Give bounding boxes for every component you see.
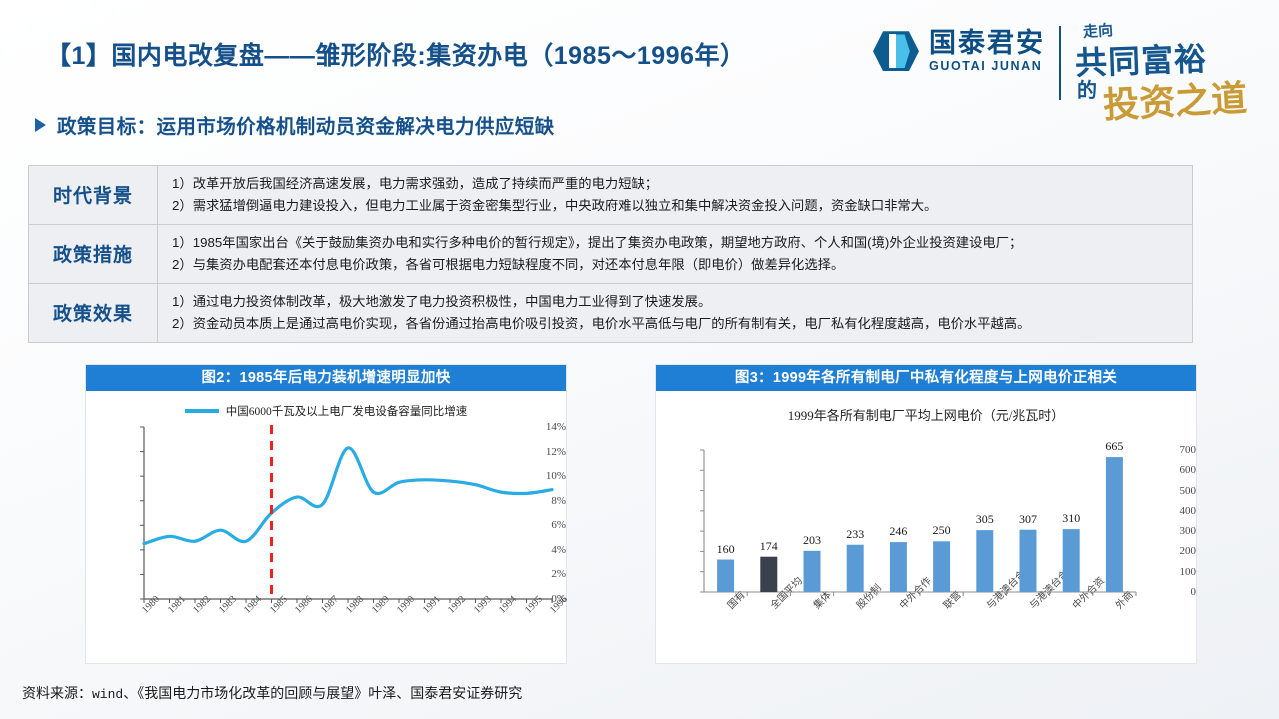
row-body: 1）通过电力投资体制改革，极大地激发了电力投资积极性，中国电力工业得到了快速发展… <box>158 283 1193 342</box>
brand-block: 国泰君安 GUOTAI JUNAN 走向 共同富裕 的 投资之道 <box>867 14 1267 110</box>
chart-panel-figure-3: 图3：1999年各所有制电厂中私有化程度与上网电价正相关 1999年各所有制电厂… <box>655 364 1197 664</box>
footnote-suffix: 、《我国电力市场化改革的回顾与展望》叶泽、国泰君安证券研究 <box>123 685 522 701</box>
company-logo: 国泰君安 GUOTAI JUNAN <box>873 30 1045 73</box>
row-label: 政策措施 <box>29 224 158 283</box>
bar <box>847 545 864 592</box>
row-line: 1）改革开放后我国经济高速发展，电力需求强劲，造成了持续而严重的电力短缺； <box>172 173 1183 195</box>
line-chart-svg <box>86 419 566 669</box>
row-line: 2）资金动员本质上是通过高电价实现，各省份通过抬高电价吸引投资，电价水平高低与电… <box>172 313 1183 335</box>
source-footnote: 资料来源：wind、《我国电力市场化改革的回顾与展望》叶泽、国泰君安证券研究 <box>22 683 522 703</box>
legend-swatch-icon <box>185 409 219 413</box>
legend-label: 中国6000千瓦及以上电厂发电设备容量同比增速 <box>226 403 468 419</box>
bar <box>1020 530 1037 592</box>
table-row: 政策效果 1）通过电力投资体制改革，极大地激发了电力投资积极性，中国电力工业得到… <box>29 283 1193 342</box>
slide: 国泰君安 GUOTAI JUNAN 走向 共同富裕 的 投资之道 【1】国内电改… <box>0 0 1279 719</box>
section-subtitle: 政策目标：运用市场价格机制动员资金解决电力供应短缺 <box>57 110 555 139</box>
row-body: 1）改革开放后我国经济高速发展，电力需求强劲，造成了持续而严重的电力短缺； 2）… <box>158 166 1193 225</box>
axis-lines <box>144 427 552 599</box>
policy-table: 时代背景 1）改革开放后我国经济高速发展，电力需求强劲，造成了持续而严重的电力短… <box>28 165 1193 343</box>
bar <box>804 551 821 592</box>
slogan-line-3: 的 <box>1077 74 1097 103</box>
guotai-junan-logo-icon <box>873 31 919 71</box>
bar-chart-plot-area: 0100200300400500600700160国有174全国平均203集体2… <box>656 424 1196 664</box>
logo-name-cn: 国泰君安 <box>929 30 1045 57</box>
bar-chart-svg <box>656 424 1196 664</box>
table-row: 时代背景 1）改革开放后我国经济高速发展，电力需求强劲，造成了持续而严重的电力短… <box>29 166 1193 225</box>
row-label: 政策效果 <box>29 283 158 342</box>
logo-name-en: GUOTAI JUNAN <box>929 60 1045 73</box>
slogan-line-4: 投资之道 <box>1102 69 1249 128</box>
arrow-bullet-icon <box>35 118 46 132</box>
bar <box>976 530 993 592</box>
subtitle-row: 政策目标：运用市场价格机制动员资金解决电力供应短缺 <box>35 110 555 139</box>
footnote-source: wind <box>92 687 123 702</box>
footnote-prefix: 资料来源： <box>22 685 92 701</box>
bar <box>717 560 734 592</box>
row-body: 1）1985年国家出台《关于鼓励集资办电和实行多种电价的暂行规定》，提出了集资办… <box>158 224 1193 283</box>
bar-chart-title: 1999年各所有制电厂平均上网电价（元/兆瓦时） <box>656 405 1196 424</box>
bar <box>760 557 777 592</box>
row-line: 1）通过电力投资体制改革，极大地激发了电力投资积极性，中国电力工业得到了快速发展… <box>172 291 1183 313</box>
chart-panel-figure-2: 图2：1985年后电力装机增速明显加快 中国6000千瓦及以上电厂发电设备容量同… <box>85 364 567 664</box>
row-label: 时代背景 <box>29 166 158 225</box>
row-line: 2）与集资办电配套还本付息电价政策，各省可根据电力短缺程度不同，对还本付息年限（… <box>172 254 1183 276</box>
row-line: 2）需求猛增倒逼电力建设投入，但电力工业属于资金密集型行业，中央政府难以独立和集… <box>172 195 1183 217</box>
chart-panel-title: 图2：1985年后电力装机增速明显加快 <box>86 365 566 391</box>
row-line: 1）1985年国家出台《关于鼓励集资办电和实行多种电价的暂行规定》，提出了集资办… <box>172 232 1183 254</box>
bar <box>933 541 950 592</box>
chart-legend: 中国6000千瓦及以上电厂发电设备容量同比增速 <box>86 403 566 419</box>
campaign-slogan: 走向 共同富裕 的 投资之道 <box>1073 18 1233 114</box>
bar <box>1106 457 1123 592</box>
brand-divider <box>1059 26 1061 100</box>
line-chart-plot-area: 0%2%4%6%8%10%12%14%198019811982198319841… <box>86 419 566 669</box>
chart-panel-title: 图3：1999年各所有制电厂中私有化程度与上网电价正相关 <box>656 365 1196 391</box>
page-title: 【1】国内电改复盘——雏形阶段:集资办电（1985～1996年） <box>46 36 745 72</box>
table-row: 政策措施 1）1985年国家出台《关于鼓励集资办电和实行多种电价的暂行规定》，提… <box>29 224 1193 283</box>
bar <box>1063 529 1080 592</box>
line-series-path <box>144 448 552 544</box>
bar <box>890 542 907 592</box>
